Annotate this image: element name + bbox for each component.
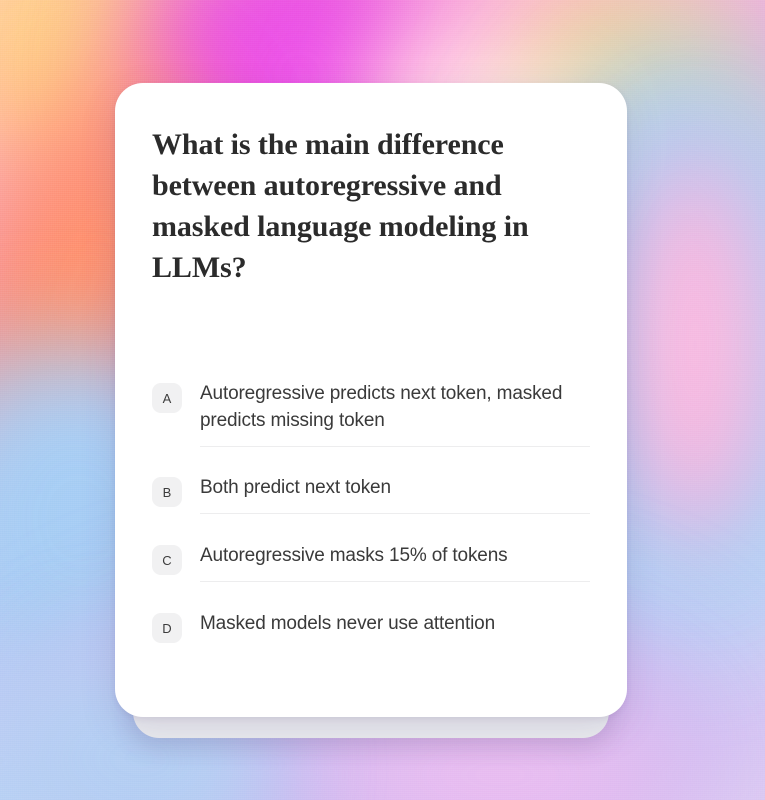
option-text-d: Masked models never use attention: [200, 611, 590, 649]
answer-option-b[interactable]: B Both predict next token: [152, 475, 590, 528]
option-letter-badge-b: B: [152, 477, 182, 507]
option-text-c: Autoregressive masks 15% of tokens: [200, 543, 590, 581]
option-body-d: Masked models never use attention: [200, 611, 590, 649]
option-body-b: Both predict next token: [200, 475, 590, 528]
option-body-c: Autoregressive masks 15% of tokens: [200, 543, 590, 596]
option-text-a: Autoregressive predicts next token, mask…: [200, 381, 590, 446]
answer-option-d[interactable]: D Masked models never use attention: [152, 611, 590, 649]
option-letter-badge-a: A: [152, 383, 182, 413]
option-body-a: Autoregressive predicts next token, mask…: [200, 381, 590, 461]
option-letter-badge-c: C: [152, 545, 182, 575]
option-text-b: Both predict next token: [200, 475, 590, 513]
answer-options-list: A Autoregressive predicts next token, ma…: [152, 381, 590, 649]
answer-option-a[interactable]: A Autoregressive predicts next token, ma…: [152, 381, 590, 461]
option-letter-badge-d: D: [152, 613, 182, 643]
option-separator-b: [200, 513, 590, 514]
option-separator-c: [200, 581, 590, 582]
question-text: What is the main difference between auto…: [152, 124, 590, 288]
option-separator-a: [200, 446, 590, 447]
answer-option-c[interactable]: C Autoregressive masks 15% of tokens: [152, 543, 590, 596]
card-stack: What is the main difference between auto…: [115, 83, 627, 717]
quiz-card: What is the main difference between auto…: [115, 83, 627, 717]
